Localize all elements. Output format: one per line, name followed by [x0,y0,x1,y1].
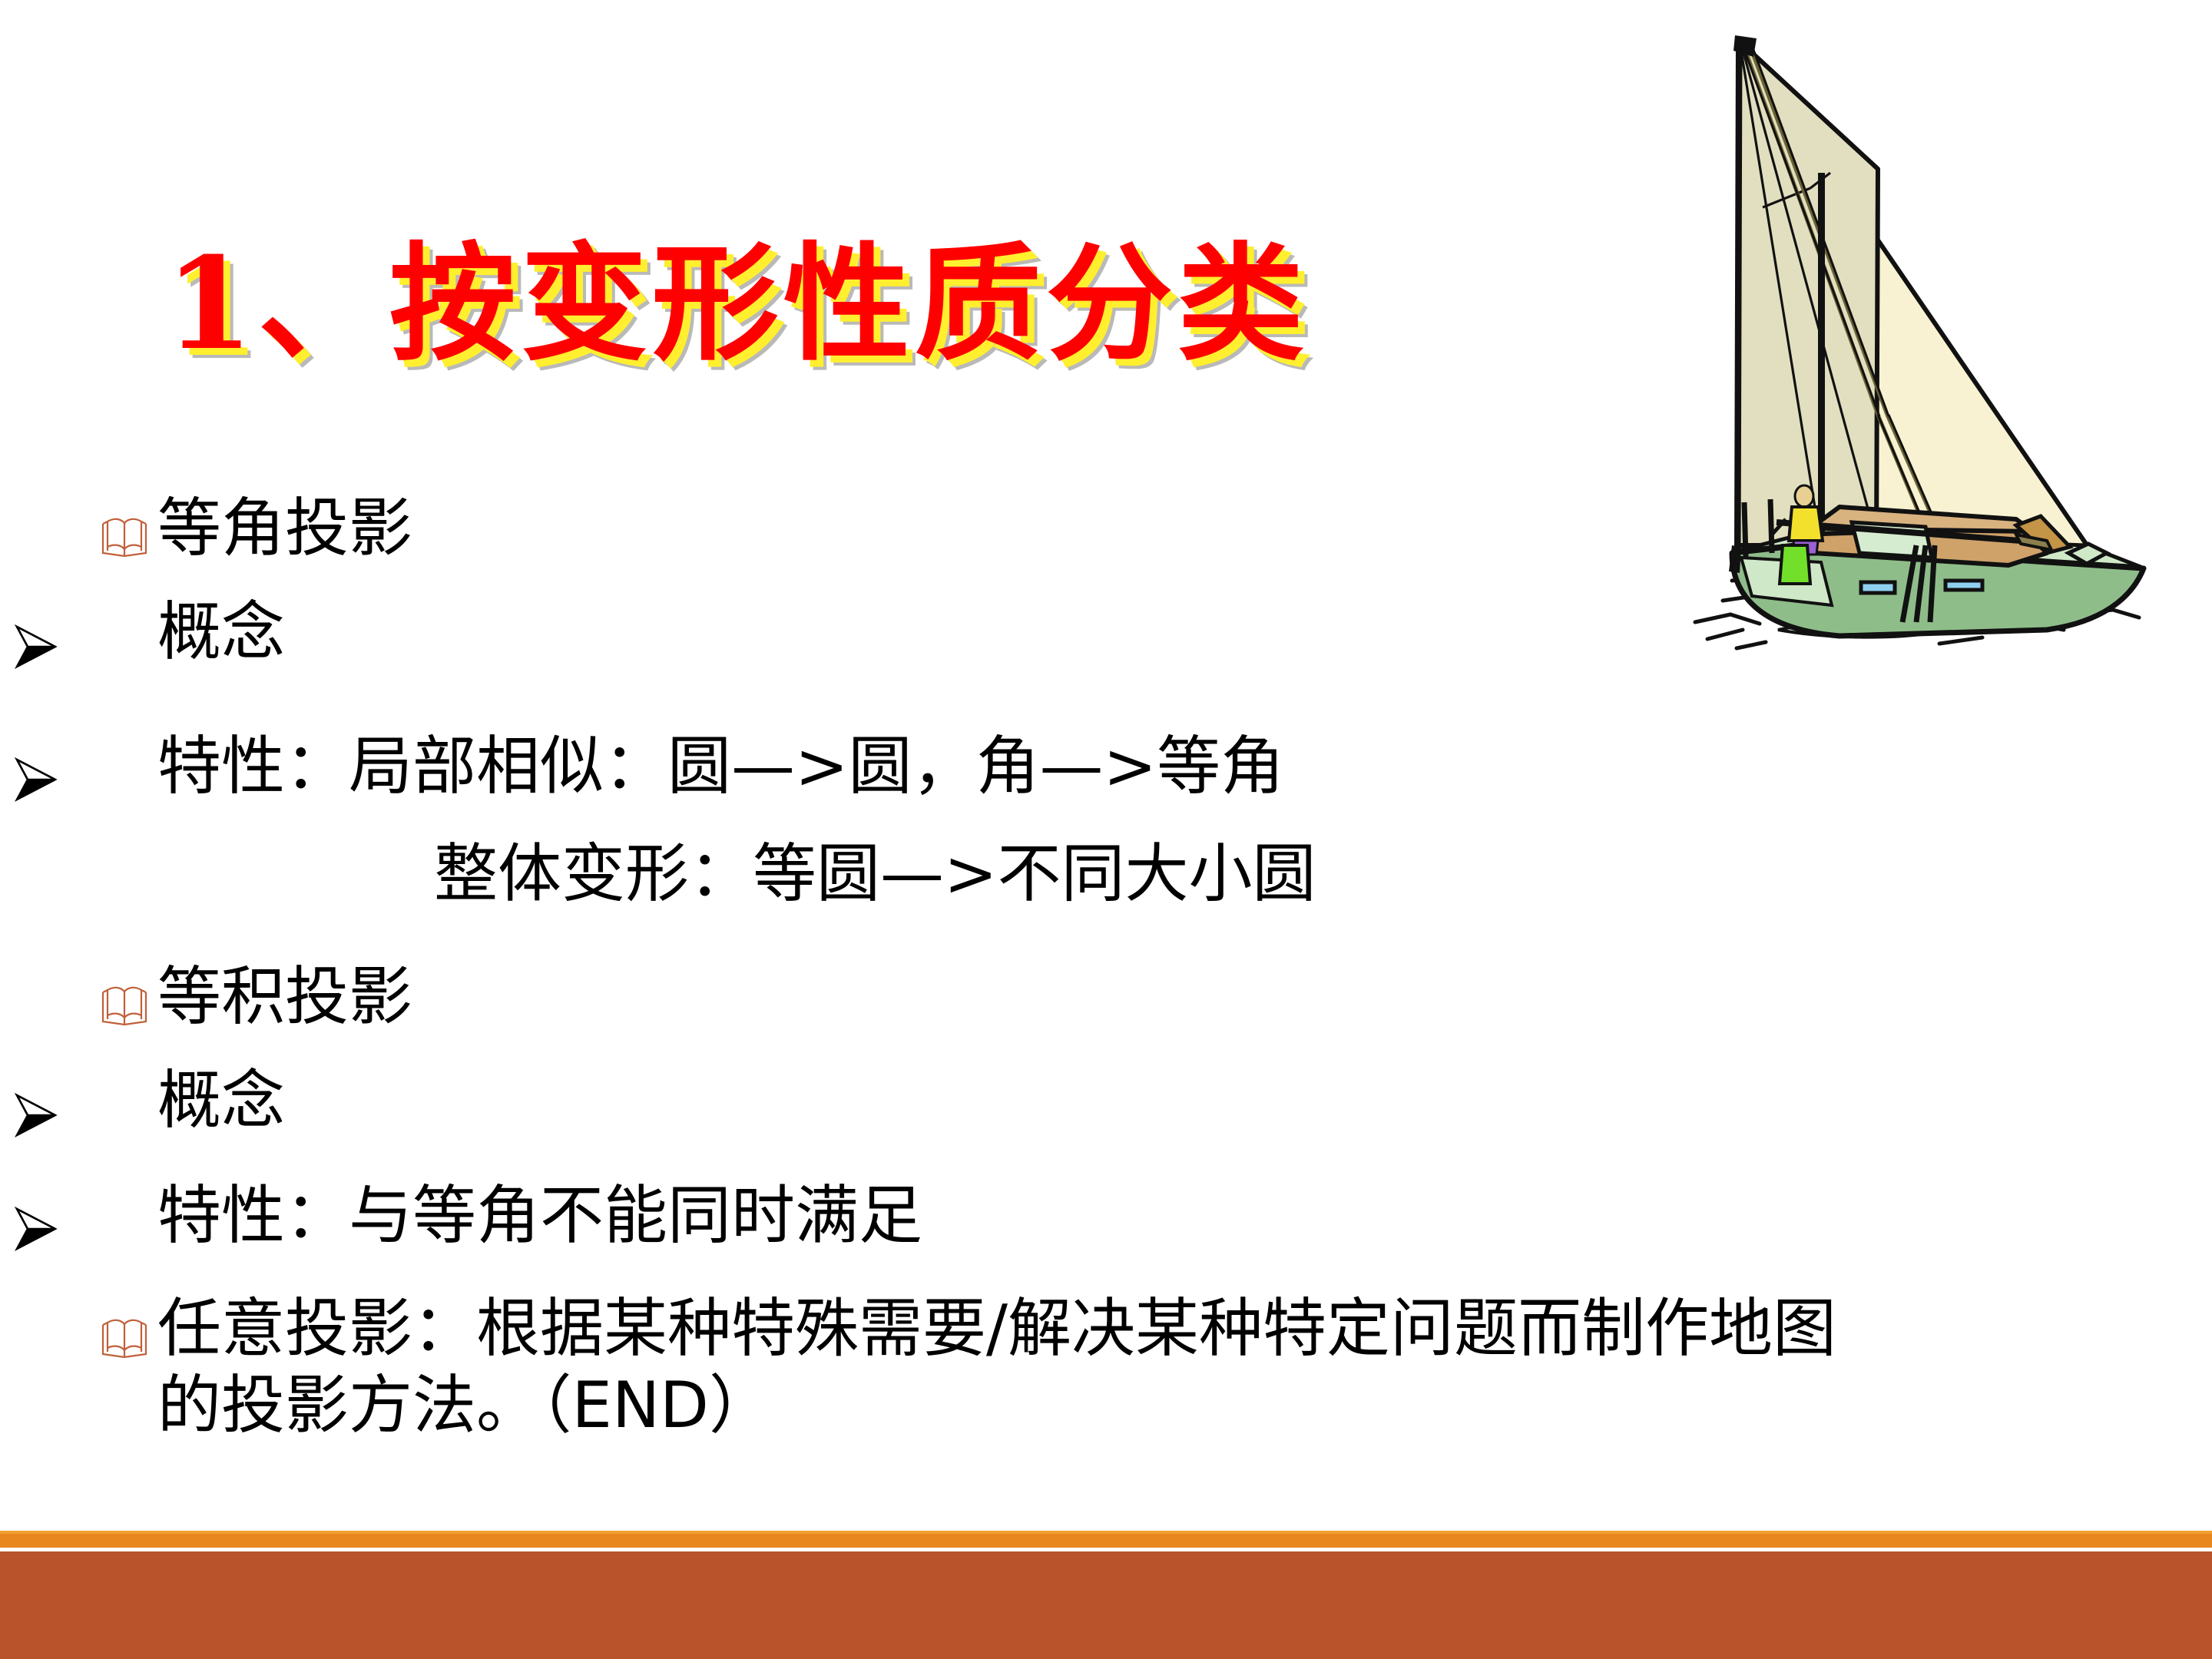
list-item: 等积投影 [157,960,412,1034]
arrow-bullet-icon [11,624,61,670]
arrow-bullet-icon [11,1092,61,1138]
list-item: 特性：与等角不能同时满足 [157,1179,922,1253]
list-item: 等角投影 [157,492,412,565]
list-item: 概念 [157,595,285,669]
decor-bar-red [0,1551,2212,1659]
list-item: 任意投影：根据某种特殊需要/解决某种特定问题而制作地图的投影方法。（END） [157,1290,1878,1444]
book-icon [100,1317,149,1360]
arrow-bullet-icon [11,757,61,803]
decor-bar-orange [0,1534,2212,1548]
title-text: 1、按变形性质分类 [165,227,1309,380]
list-item: 概念 [157,1064,285,1137]
list-item: 特性：局部相似：圆—>圆，角—>等角 [157,730,1284,803]
list-item-continuation: 整体变形：等圆—>不同大小圆 [434,837,1316,911]
arrow-bullet-icon [11,1206,61,1252]
sailboat-illustration [1686,15,2162,691]
sailboat-group [1695,35,2144,648]
slide-canvas: 1、按变形性质分类 1、按变形性质分类 1、按变形性质分类 等角投影 概念 特性… [0,0,2212,1659]
book-icon [100,516,149,559]
book-icon [100,985,149,1028]
page-title: 1、按变形性质分类 1、按变形性质分类 1、按变形性质分类 [165,227,1471,388]
